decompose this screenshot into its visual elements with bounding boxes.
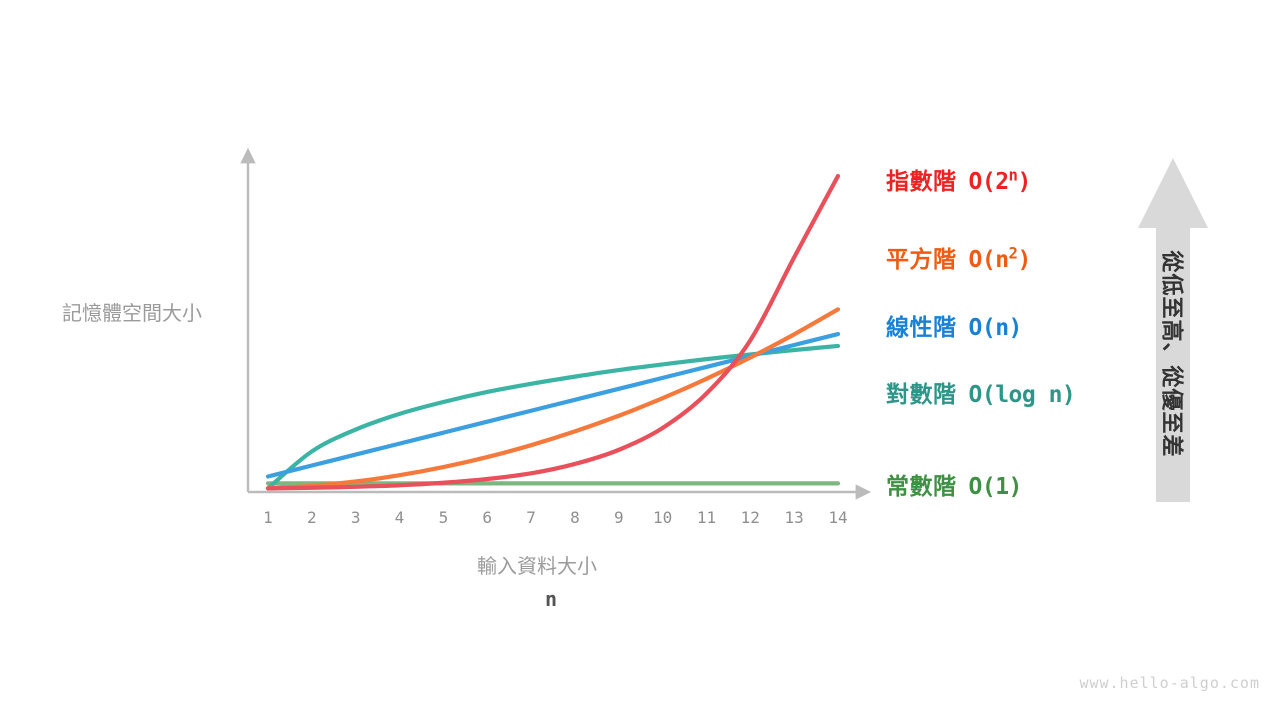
legend-item-name: 線性階 [886,314,957,340]
x-tick-label-6: 6 [467,508,507,527]
chart-canvas [0,0,1280,720]
legend-item-name: 常數階 [886,473,957,499]
x-tick-label-11: 11 [687,508,727,527]
series-line-o2 [268,176,838,488]
x-tick-label-9: 9 [599,508,639,527]
legend-item-name: 指數階 [886,168,957,194]
x-tick-label-8: 8 [555,508,595,527]
x-axis-variable-label: n [545,587,557,611]
legend-item-3: 對數階O(log n) [886,375,1075,409]
legend-item-notation: O(n) [969,315,1022,341]
legend-item-notation: O(1) [969,474,1022,500]
chart-series-group [268,176,838,488]
complexity-chart-figure: 1234567891011121314 記憶體空間大小 輸入資料大小 n 指數階… [0,0,1280,720]
x-tick-label-2: 2 [292,508,332,527]
ranking-arrow-label: 從低至高、從優至差 [1157,250,1189,457]
x-tick-label-4: 4 [380,508,420,527]
x-tick-label-14: 14 [818,508,858,527]
x-tick-label-5: 5 [423,508,463,527]
legend-item-notation: O(2n) [969,169,1031,195]
legend-item-notation: O(n2) [969,247,1031,273]
legend-item-notation: O(log n) [969,382,1076,408]
x-axis-title: 輸入資料大小 [477,550,597,579]
legend-item-0: 指數階O(2n) [886,162,1031,196]
x-tick-label-12: 12 [730,508,770,527]
legend-item-2: 線性階O(n) [886,308,1022,342]
x-tick-label-3: 3 [336,508,376,527]
x-tick-label-13: 13 [774,508,814,527]
legend-item-name: 對數階 [886,381,957,407]
y-axis-title: 記憶體空間大小 [62,297,202,326]
ranking-arrow-label-wrap: 從低至高、從優至差 [1136,156,1210,504]
legend-item-4: 常數階O(1) [886,467,1022,501]
x-tick-label-1: 1 [248,508,288,527]
x-tick-label-7: 7 [511,508,551,527]
series-line-ologn [268,346,838,488]
legend-item-name: 平方階 [886,246,957,272]
legend-item-1: 平方階O(n2) [886,240,1031,274]
site-watermark: www.hello-algo.com [1079,674,1260,692]
x-tick-label-10: 10 [643,508,683,527]
